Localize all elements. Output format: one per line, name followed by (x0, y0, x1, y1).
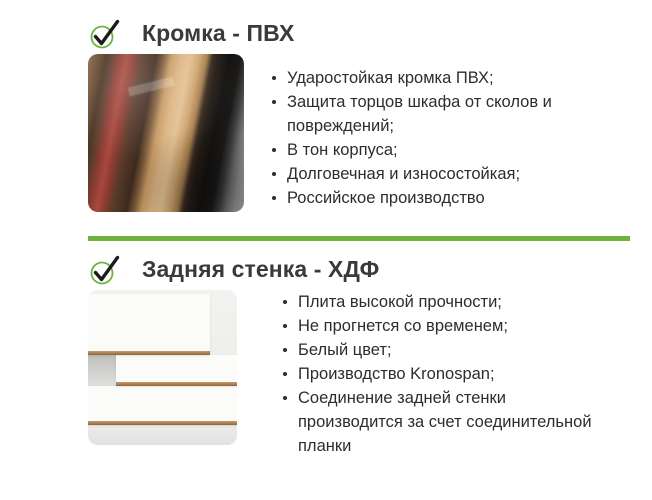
list-item: Плита высокой прочности; (282, 290, 602, 314)
section-body-edge-banding: Ударостойкая кромка ПВХ; Защита торцов ш… (0, 54, 652, 226)
image-floor (88, 425, 237, 445)
section-back-panel: Задняя стенка - ХДФ Плита высокой прочно… (0, 250, 652, 460)
section-header-back-panel: Задняя стенка - ХДФ (0, 250, 652, 290)
product-image-back-panel (88, 290, 237, 445)
list-item: Долговечная и износостойкая; (271, 162, 591, 186)
section-body-back-panel: Плита высокой прочности; Не прогнется со… (0, 290, 652, 460)
list-item: Ударостойкая кромка ПВХ; (271, 66, 591, 90)
feature-list-edge-banding: Ударостойкая кромка ПВХ; Защита торцов ш… (271, 66, 591, 210)
product-image-edge-banding (88, 54, 244, 212)
list-item: Защита торцов шкафа от сколов и поврежде… (271, 90, 591, 138)
page-title-back-panel: Задняя стенка - ХДФ (88, 257, 379, 282)
section-divider (88, 236, 630, 241)
list-item: Производство Kronospan; (282, 362, 602, 386)
section-header-edge-banding: Кромка - ПВХ (0, 14, 652, 54)
list-item: В тон корпуса; (271, 138, 591, 162)
list-item: Соединение задней стенки производится за… (282, 386, 602, 458)
list-item: Российское производство (271, 186, 591, 210)
list-item: Не прогнется со временем; (282, 314, 602, 338)
check-circle-icon (88, 18, 122, 50)
product-features-page: Кромка - ПВХ Ударостойкая кромка ПВХ; За… (0, 0, 652, 500)
image-board-bottom (88, 386, 237, 425)
feature-list-back-panel: Плита высокой прочности; Не прогнется со… (282, 290, 602, 458)
check-circle-icon (88, 254, 122, 286)
image-board-middle (116, 355, 237, 386)
list-item: Белый цвет; (282, 338, 602, 362)
image-board-top (88, 294, 210, 355)
section-edge-banding: Кромка - ПВХ Ударостойкая кромка ПВХ; За… (0, 14, 652, 226)
